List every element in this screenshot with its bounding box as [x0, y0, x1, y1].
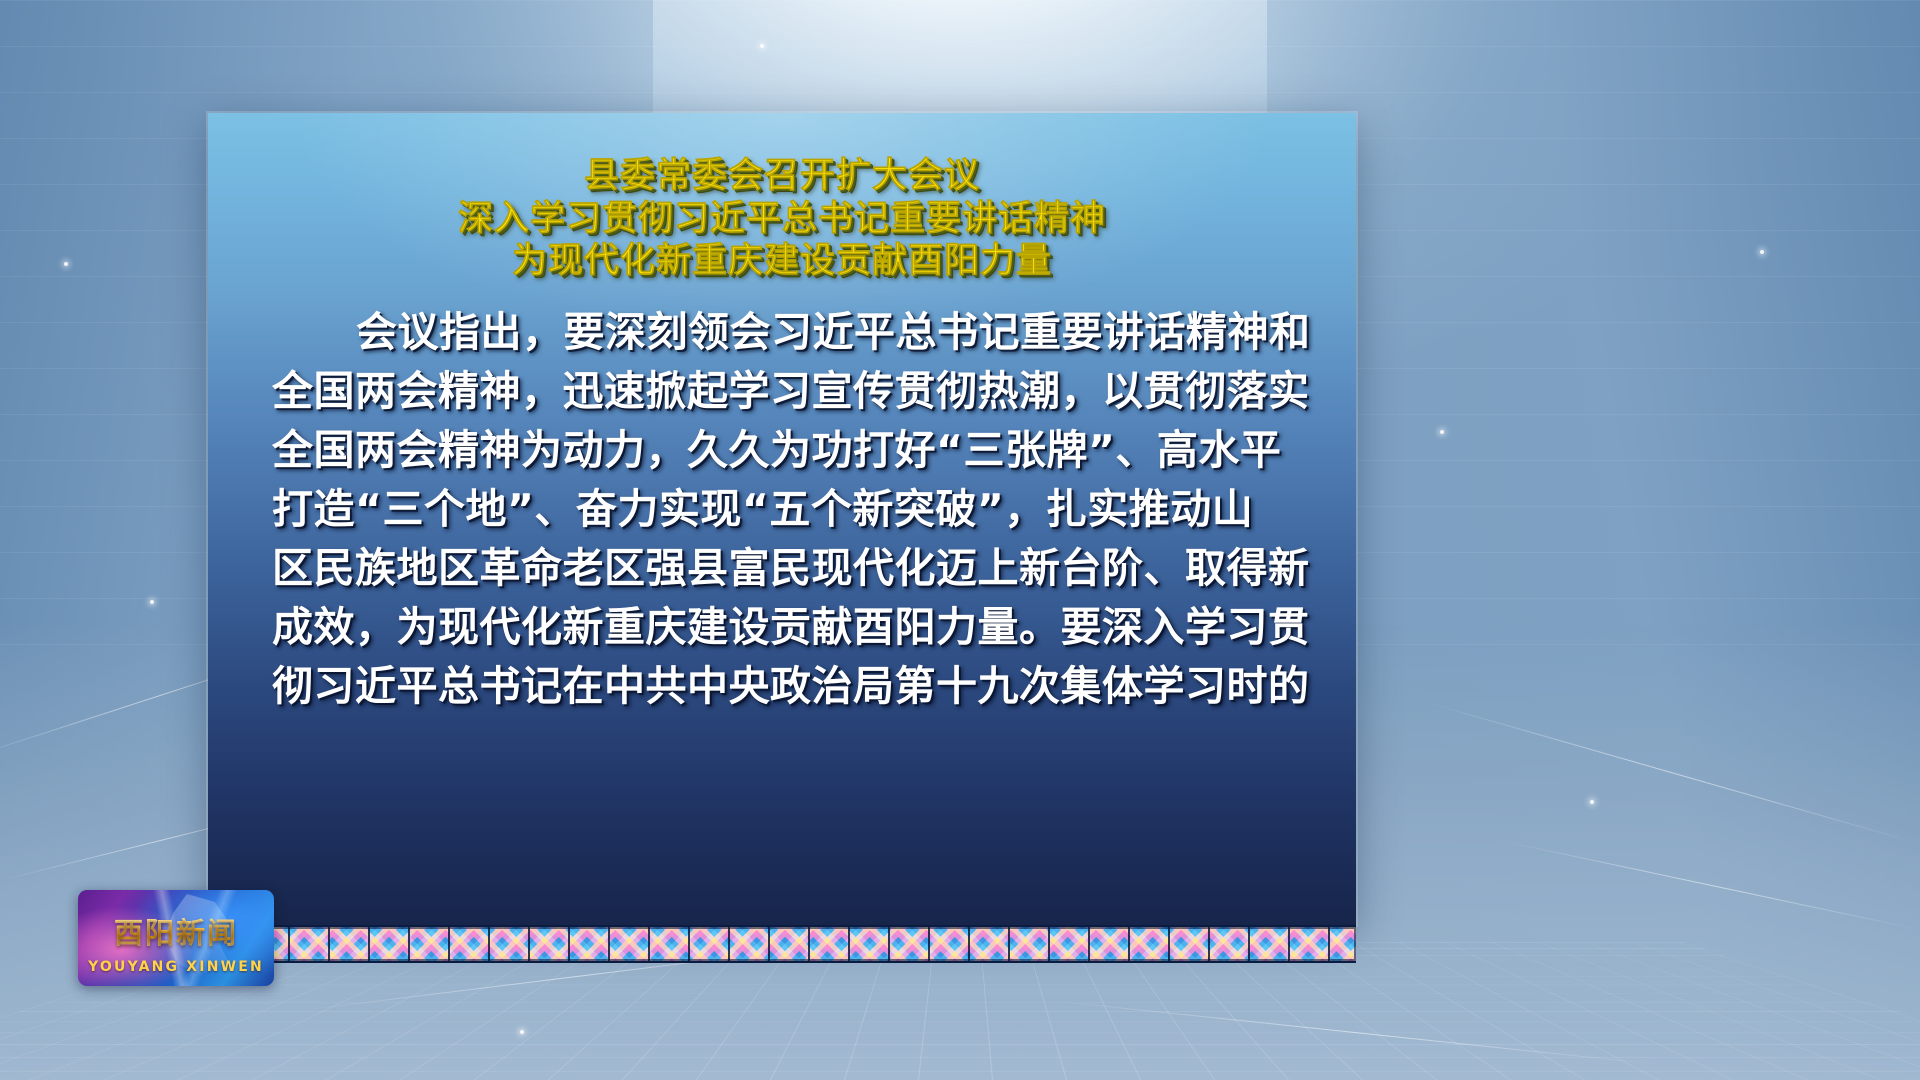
headline-line-3: 为现代化新重庆建设贡献酉阳力量: [208, 240, 1356, 283]
sparkle-dot: [760, 44, 764, 48]
article-line: 全国两会精神，迅速掀起学习宣传贯彻热潮，以贯彻落实: [272, 362, 1304, 421]
ethnic-pattern-overlay: [208, 927, 1356, 961]
channel-name-cn: 酉阳新闻: [78, 910, 274, 952]
sparkle-dot: [1440, 430, 1444, 434]
sparkle-dot: [64, 262, 68, 266]
article-line: 会议指出，要深刻领会习近平总书记重要讲话精神和: [272, 303, 1304, 362]
article-line: 彻习近平总书记在中共中央政治局第十九次集体学习时的: [272, 657, 1304, 716]
article-line: 全国两会精神为动力，久久为功打好“三张牌”、高水平: [272, 421, 1304, 480]
headline-line-1: 县委常委会召开扩大会议: [208, 155, 1356, 198]
article-body: 会议指出，要深刻领会习近平总书记重要讲话精神和 全国两会精神，迅速掀起学习宣传贯…: [272, 303, 1304, 716]
headline-block: 县委常委会召开扩大会议 深入学习贯彻习近平总书记重要讲话精神 为现代化新重庆建设…: [208, 155, 1356, 283]
sparkle-dot: [150, 600, 154, 604]
channel-logo-badge: 酉阳新闻 YOUYANG XINWEN: [78, 890, 274, 986]
news-content-card: 县委常委会召开扩大会议 深入学习贯彻习近平总书记重要讲话精神 为现代化新重庆建设…: [208, 113, 1356, 925]
headline-line-2: 深入学习贯彻习近平总书记重要讲话精神: [208, 198, 1356, 241]
sparkle-dot: [1590, 800, 1594, 804]
article-line: 区民族地区革命老区强县富民现代化迈上新台阶、取得新: [272, 539, 1304, 598]
sparkle-dot: [1760, 250, 1764, 254]
ethnic-pattern-border: [208, 925, 1356, 963]
channel-name-en: YOUYANG XINWEN: [78, 959, 274, 975]
article-line: 打造“三个地”、奋力实现“五个新突破”，扎实推动山: [272, 480, 1304, 539]
sparkle-dot: [520, 1030, 524, 1034]
article-line: 成效，为现代化新重庆建设贡献酉阳力量。要深入学习贯: [272, 598, 1304, 657]
